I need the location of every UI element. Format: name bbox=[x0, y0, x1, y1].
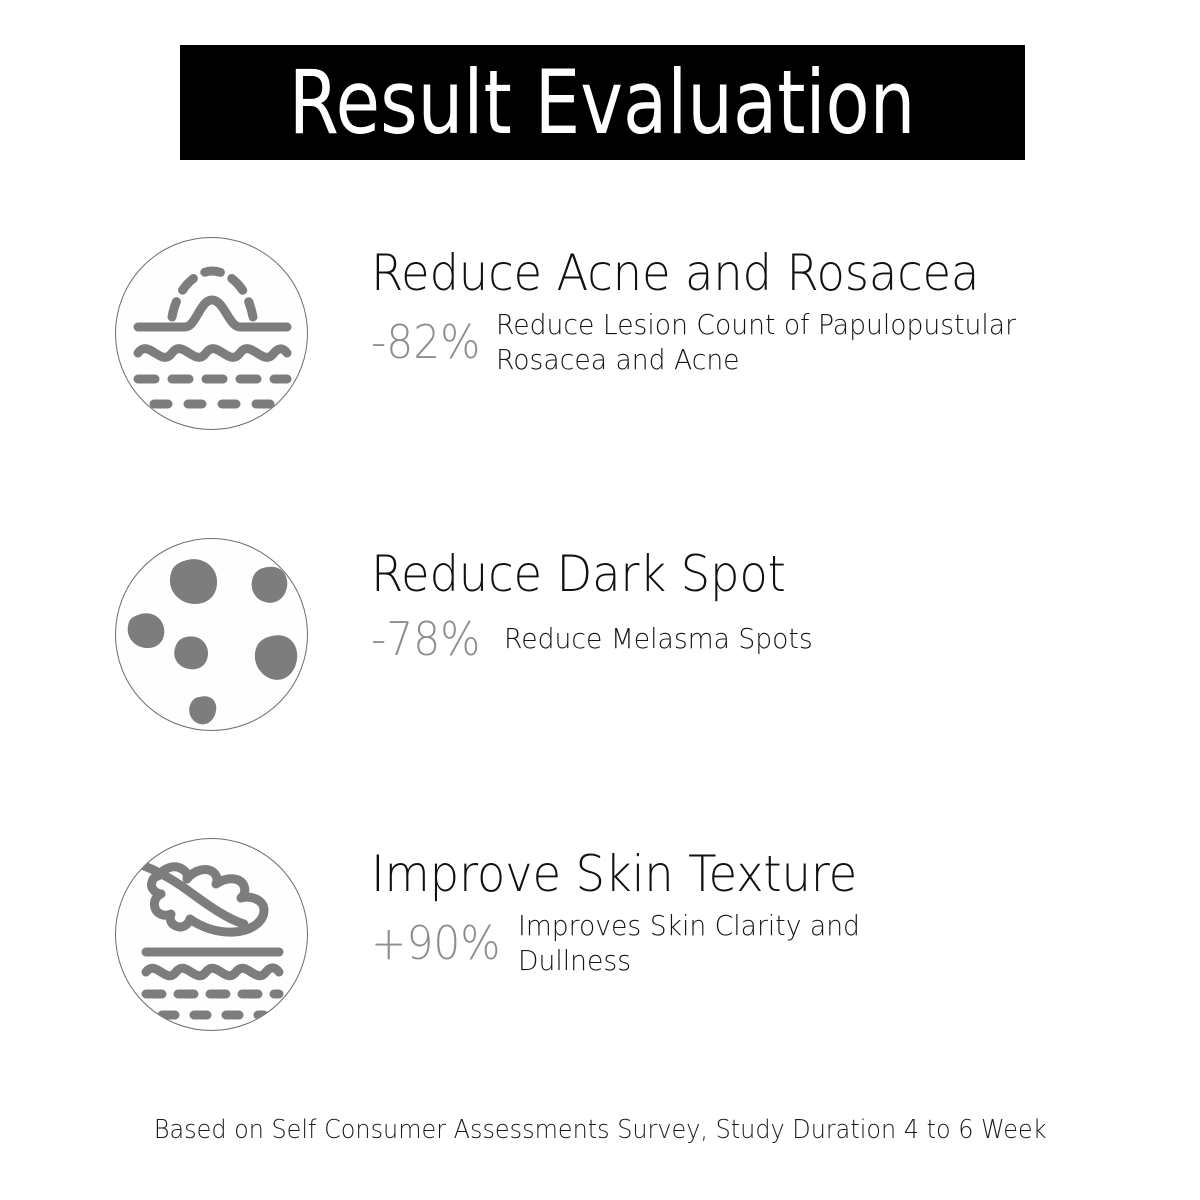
stat-description: Reduce Lesion Count of Papulopustular Ro… bbox=[496, 307, 1066, 378]
feature-stat-line: -82% Reduce Lesion Count of Papulopustul… bbox=[371, 307, 1200, 378]
feature-heading: Reduce Acne and Rosacea bbox=[371, 245, 1142, 301]
page-title: Result Evaluation bbox=[289, 59, 916, 147]
feature-text: Improve Skin Texture +90% Improves Skin … bbox=[371, 838, 1200, 979]
stat-description: Reduce Melasma Spots bbox=[504, 621, 813, 656]
feature-text: Reduce Dark Spot -78% Reduce Melasma Spo… bbox=[371, 538, 1200, 662]
feature-stat-line: -78% Reduce Melasma Spots bbox=[371, 616, 1200, 662]
feature-row: Reduce Acne and Rosacea -82% Reduce Lesi… bbox=[0, 237, 1200, 430]
feature-row: Improve Skin Texture +90% Improves Skin … bbox=[0, 838, 1200, 1031]
result-evaluation-infographic: Result Evaluation Reduce Ac bbox=[0, 0, 1200, 1200]
feature-stat-line: +90% Improves Skin Clarity and Dullness bbox=[371, 908, 1200, 979]
feather-skin-layers-icon bbox=[115, 838, 308, 1031]
stat-percentage: -78% bbox=[371, 616, 480, 662]
stat-percentage: -82% bbox=[371, 319, 480, 365]
footer-note-text: Based on Self Consumer Assessments Surve… bbox=[154, 1115, 1047, 1145]
feature-heading: Reduce Dark Spot bbox=[371, 546, 1142, 602]
title-banner: Result Evaluation bbox=[180, 45, 1025, 160]
skin-layers-bump-icon bbox=[115, 237, 308, 430]
footer-note: Based on Self Consumer Assessments Surve… bbox=[0, 1115, 1200, 1145]
feature-row: Reduce Dark Spot -78% Reduce Melasma Spo… bbox=[0, 538, 1200, 731]
feature-heading: Improve Skin Texture bbox=[371, 846, 1142, 902]
stat-description: Improves Skin Clarity and Dullness bbox=[518, 908, 927, 979]
feature-text: Reduce Acne and Rosacea -82% Reduce Lesi… bbox=[371, 237, 1200, 378]
stat-percentage: +90% bbox=[371, 920, 501, 966]
dark-spots-icon bbox=[115, 538, 308, 731]
